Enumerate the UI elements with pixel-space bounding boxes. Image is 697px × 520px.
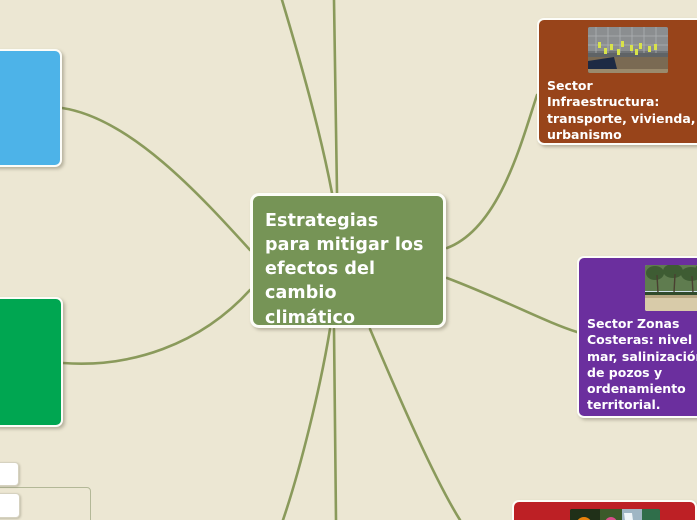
branch-node-zonas-costeras[interactable]: Sector Zonas Costeras: nivel del mar, sa…: [577, 256, 697, 418]
beach-palm-trees-image: [645, 265, 697, 311]
connector-to-zonas-costeras: [447, 278, 577, 332]
leaf-card-2[interactable]: n: [0, 493, 20, 518]
connector-down-1: [334, 329, 336, 520]
branch-node-infraestructura[interactable]: Sector Infraestructura: transporte, vivi…: [537, 18, 697, 145]
central-node-label: Estrategias para mitigar los efectos del…: [265, 209, 429, 328]
mindmap-canvas[interactable]: Estrategias para mitigar los efectos del…: [0, 0, 697, 520]
leaf-card-2-label: n: [0, 498, 14, 512]
connector-down-2: [283, 329, 330, 520]
branch-node-agropecuario[interactable]: encia,: [0, 297, 63, 427]
connector-down-3: [370, 329, 460, 520]
connector-to-agropecuario: [63, 290, 250, 364]
connector-up-1: [334, 0, 337, 193]
branch-label-zonas-costeras: Sector Zonas Costeras: nivel del mar, sa…: [587, 316, 697, 414]
branch-node-recurso-hidrico[interactable]: [0, 49, 62, 167]
construction-site-image: [588, 27, 668, 73]
connector-to-recurso-hidrico: [62, 108, 250, 250]
connector-up-2: [282, 0, 332, 193]
nature-collage-image: [570, 509, 660, 520]
branch-label-agropecuario: encia,: [0, 350, 54, 366]
branch-label-infraestructura: Sector Infraestructura: transporte, vivi…: [547, 78, 697, 143]
connector-to-infraestructura: [447, 95, 537, 248]
branch-node-biodiversidad[interactable]: [512, 500, 697, 520]
leaf-card-1[interactable]: [0, 462, 19, 486]
central-node[interactable]: Estrategias para mitigar los efectos del…: [250, 193, 446, 328]
